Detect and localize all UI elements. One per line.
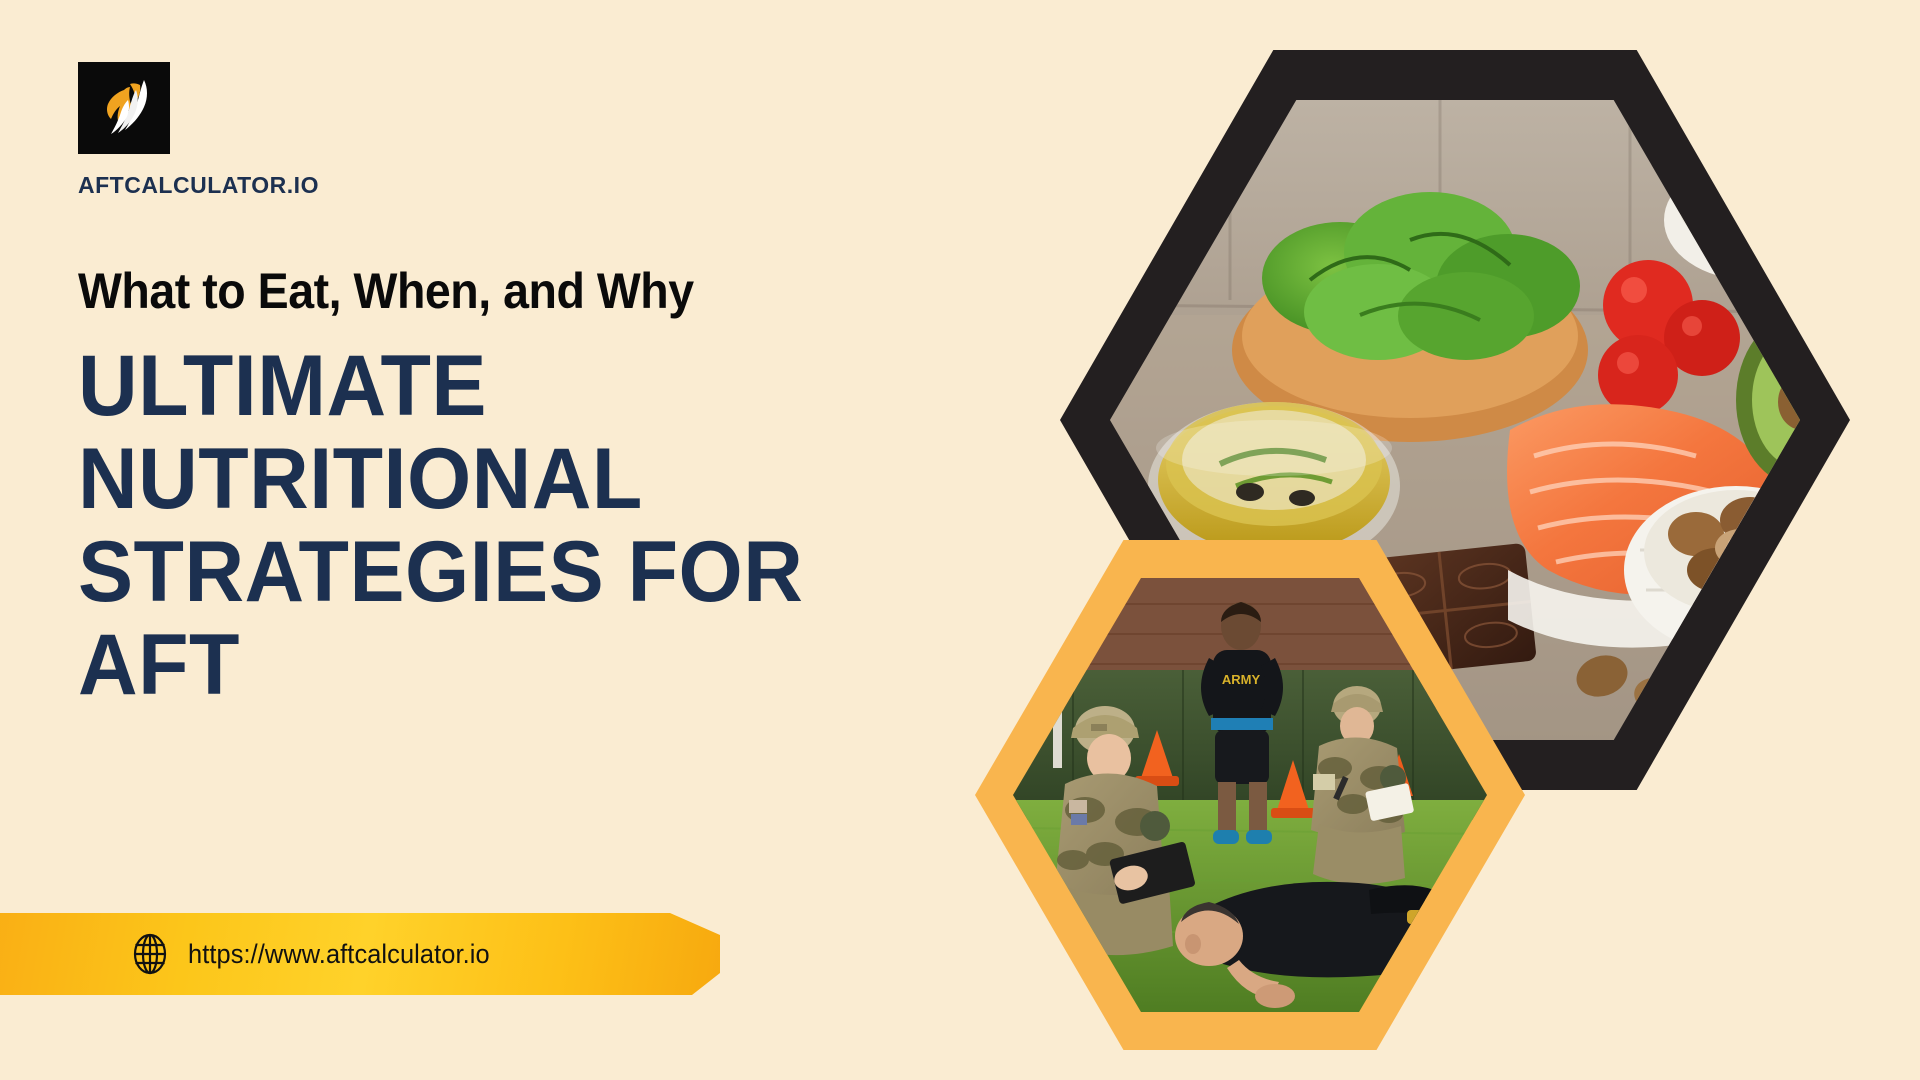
phoenix-bird-logo-icon (78, 62, 170, 154)
headline-line-4: AFT (78, 619, 1000, 712)
headline-line-3: STRATEGIES FOR (78, 526, 1000, 619)
poster-canvas: AFTCALCULATOR.IO What to Eat, When, and … (0, 0, 1920, 1080)
website-url-text: https://www.aftcalculator.io (188, 939, 490, 970)
hexagon-image-group: ARMY (1040, 0, 1920, 1080)
headline-line-2: NUTRITIONAL (78, 433, 1000, 526)
headline-line-1: ULTIMATE (78, 340, 1000, 433)
hero-kicker: What to Eat, When, and Why (78, 265, 694, 317)
brand-block: AFTCALCULATOR.IO (78, 62, 498, 199)
svg-text:ARMY: ARMY (1222, 672, 1261, 687)
globe-icon (128, 932, 172, 976)
brand-name: AFTCALCULATOR.IO (78, 172, 498, 199)
website-url-ribbon[interactable]: https://www.aftcalculator.io (0, 913, 720, 995)
page-title: ULTIMATE NUTRITIONAL STRATEGIES FOR AFT (78, 340, 1000, 712)
